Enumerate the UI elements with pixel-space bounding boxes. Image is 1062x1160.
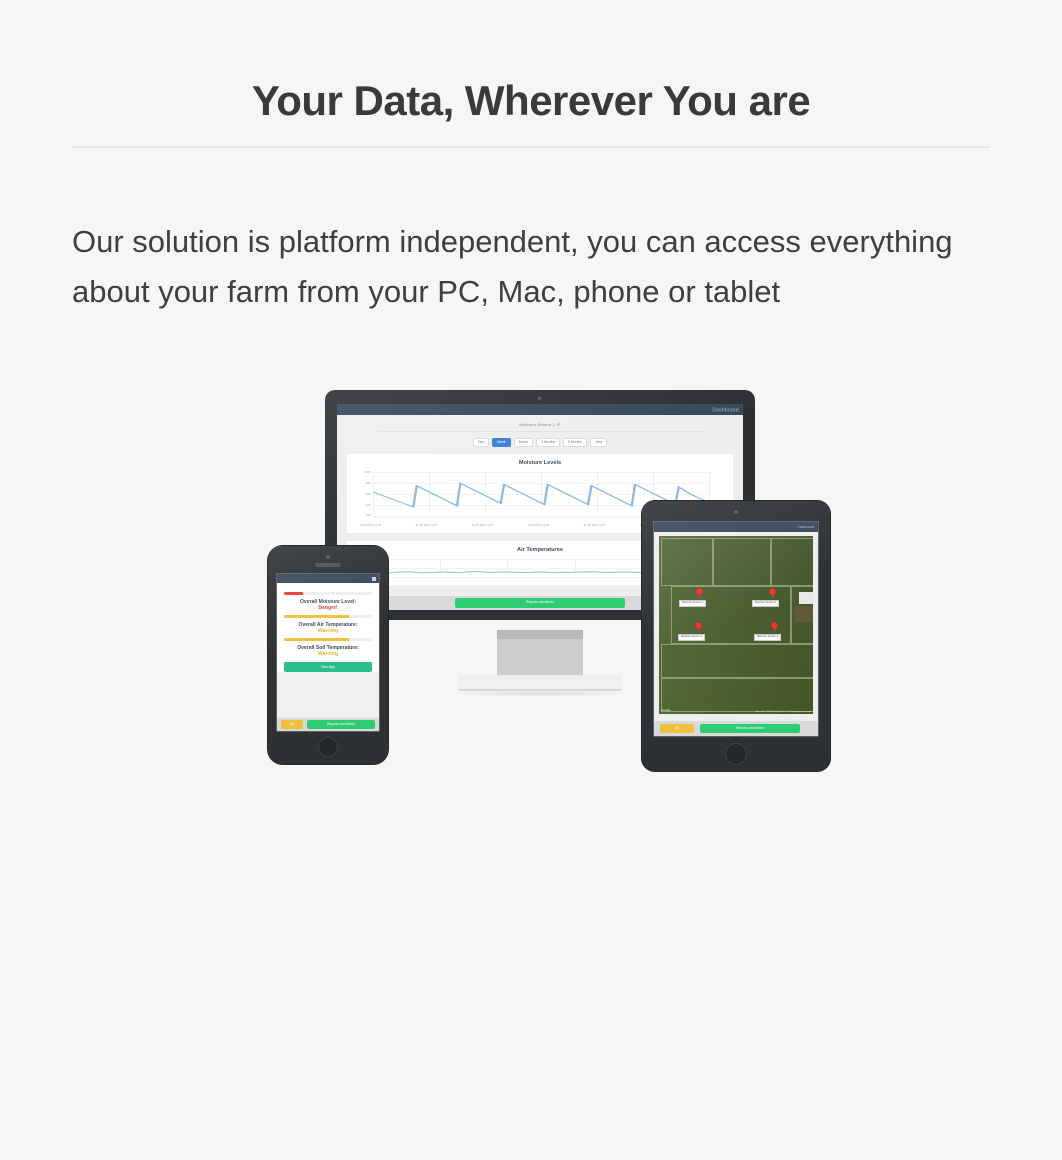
phone-navbar bbox=[277, 574, 379, 583]
map-pin-2[interactable] bbox=[769, 588, 776, 598]
tablet-home-button[interactable] bbox=[725, 743, 747, 765]
tablet-reports-button[interactable]: Reports and Alerts bbox=[700, 724, 800, 733]
monitor-stand-base bbox=[458, 675, 622, 691]
moisture-x-tick-0: Jan 02 2016 12:00 bbox=[360, 524, 382, 527]
page-title: Your Data, Wherever You are bbox=[0, 76, 1062, 126]
monitor-stand-neck bbox=[497, 630, 583, 678]
phone-mockup: Overall Moisture Level: Danger! Overall … bbox=[267, 545, 389, 765]
phone-reports-button[interactable]: Reports and Alerts bbox=[307, 720, 375, 729]
monitor-stand-neck-top bbox=[497, 630, 583, 639]
moisture-x-tick-4: Jan 06 2016 12:00 bbox=[583, 524, 605, 527]
desktop-range-tabs: Day Week Month 3 Months 6 Months Year bbox=[337, 438, 743, 447]
desktop-navbar: Dashboard bbox=[337, 404, 743, 415]
tablet-app-screen: Dashboard bbox=[653, 521, 819, 737]
tablet-ok-button[interactable]: Ok bbox=[660, 724, 694, 733]
tablet-navbar: Dashboard bbox=[654, 522, 818, 532]
moisture-x-tick-2: Jan 04 2016 12:00 bbox=[471, 524, 493, 527]
phone-ok-button[interactable]: Ok bbox=[281, 720, 303, 729]
phone-app-screen: Overall Moisture Level: Danger! Overall … bbox=[276, 573, 380, 732]
webcam-icon bbox=[536, 395, 543, 402]
desktop-title-rule bbox=[377, 431, 703, 432]
map-pin-label-2: Moisture Sensor 2 bbox=[752, 600, 779, 607]
device-mockup-scene: Dashboard Moisture Sensor 1 IP Day Week … bbox=[0, 380, 1062, 800]
tab-3months[interactable]: 3 Months bbox=[536, 438, 560, 447]
map-pin-label-1: Moisture Sensor 1 bbox=[679, 600, 706, 607]
map-pin-1[interactable] bbox=[696, 588, 703, 598]
desktop-app-title: Moisture Sensor 1 IP bbox=[337, 415, 743, 427]
phone-home-button[interactable] bbox=[318, 737, 338, 757]
tablet-bezel: Dashboard bbox=[641, 500, 831, 772]
hero-body-text: Our solution is platform independent, yo… bbox=[72, 217, 972, 317]
phone-status-list: Overall Moisture Level: Danger! Overall … bbox=[277, 583, 379, 672]
monitor-shadow bbox=[445, 690, 635, 697]
tab-day[interactable]: Day bbox=[473, 438, 489, 447]
soil-temp-meter bbox=[284, 638, 372, 641]
phone-speaker-icon bbox=[315, 563, 341, 567]
moisture-y-tick-1: 80% bbox=[357, 482, 371, 485]
tablet-nav-label[interactable]: Dashboard bbox=[797, 525, 814, 529]
map-pin-4[interactable] bbox=[771, 622, 778, 632]
map-pin-3[interactable] bbox=[695, 622, 702, 632]
field-map[interactable]: Moisture Sensor 1 Moisture Sensor 2 Mois… bbox=[659, 536, 813, 714]
map-pin-label-4: Moisture Sensor 4 bbox=[754, 634, 781, 641]
tab-year[interactable]: Year bbox=[590, 438, 607, 447]
moisture-y-tick-4: 20% bbox=[357, 514, 371, 517]
moisture-panel-title: Moisture Levels bbox=[347, 454, 733, 468]
tablet-bottom-bar: Ok Reports and Alerts bbox=[654, 721, 818, 736]
map-provider-logo: Google bbox=[661, 708, 671, 712]
moisture-stat-value: Danger! bbox=[284, 605, 372, 612]
phone-bottom-bar: Ok Reports and Alerts bbox=[277, 718, 379, 731]
moisture-y-tick-2: 60% bbox=[357, 493, 371, 496]
tab-6months[interactable]: 6 Months bbox=[563, 438, 587, 447]
tab-week[interactable]: Week bbox=[492, 438, 511, 447]
moisture-x-tick-1: Jan 03 2016 12:00 bbox=[415, 524, 437, 527]
page-root: Your Data, Wherever You are Our solution… bbox=[0, 0, 1062, 834]
menu-icon[interactable] bbox=[372, 577, 376, 581]
map-attribution: Map data ©2016 Google Terms of Use Repor… bbox=[756, 711, 812, 713]
air-temp-stat-value: Warning bbox=[284, 628, 372, 635]
phone-view-map-button[interactable]: View Map bbox=[284, 662, 372, 672]
desktop-reports-button[interactable]: Reports and Alerts bbox=[455, 598, 625, 607]
moisture-y-tick-3: 40% bbox=[357, 504, 371, 507]
tab-month[interactable]: Month bbox=[514, 438, 533, 447]
tablet-camera-icon bbox=[734, 510, 738, 514]
section-divider bbox=[72, 146, 990, 148]
map-pin-label-3: Moisture Sensor 3 bbox=[678, 634, 705, 641]
moisture-meter bbox=[284, 592, 372, 595]
tablet-mockup: Dashboard bbox=[641, 500, 831, 1160]
moisture-y-tick-0: 100% bbox=[357, 471, 371, 474]
phone-camera-icon bbox=[326, 555, 330, 559]
phone-bezel: Overall Moisture Level: Danger! Overall … bbox=[267, 545, 389, 765]
moisture-x-tick-3: Jan 05 2016 12:00 bbox=[528, 524, 550, 527]
soil-temp-stat-value: Warning bbox=[284, 651, 372, 658]
air-temp-meter bbox=[284, 615, 372, 618]
desktop-nav-label[interactable]: Dashboard bbox=[713, 407, 739, 413]
